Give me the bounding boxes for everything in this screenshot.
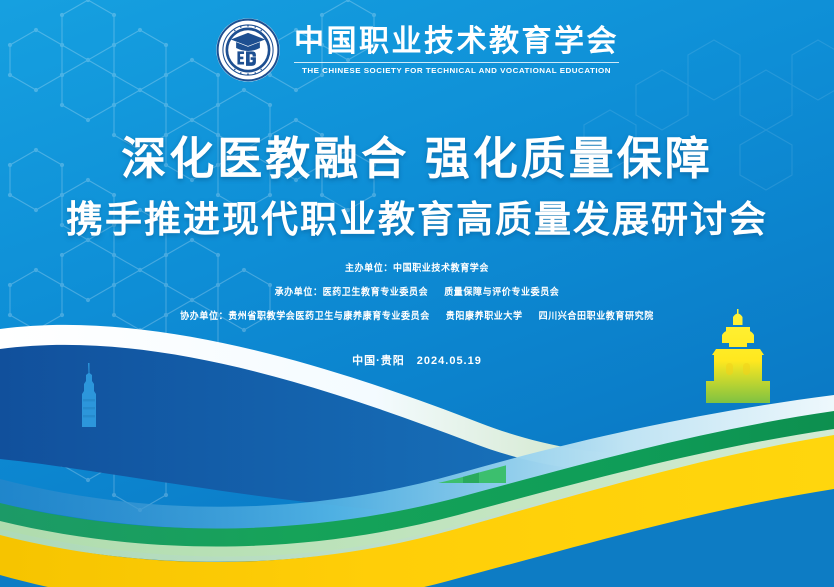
organizer-entity: 医药卫生教育专业委员会 (323, 287, 429, 298)
organizer-label: 主办单位： (345, 263, 393, 274)
organizer-entity: 中国职业技术教育学会 (393, 263, 489, 274)
society-name-en: THE CHINESE SOCIETY FOR TECHNICAL AND VO… (302, 67, 611, 76)
conference-banner: 中国职业技术教育学会 THE CHINESE SOCIETY FOR TECHN… (0, 0, 834, 587)
society-logo-block: 中国职业技术教育学会 THE CHINESE SOCIETY FOR TECHN… (0, 17, 834, 83)
organizer-label: 承办单位： (275, 287, 323, 298)
logo-divider (294, 62, 619, 63)
graduation-cap-seal-logo-icon (215, 17, 281, 83)
organizer-row-host: 主办单位：中国职业技术教育学会 (345, 261, 489, 275)
banner-sub-title: 携手推进现代职业教育高质量发展研讨会 (0, 189, 834, 243)
society-name-cn: 中国职业技术教育学会 (294, 25, 619, 59)
banner-main-title: 深化医教融合 强化质量保障 (0, 122, 834, 187)
organizer-row-undertaker: 承办单位：医药卫生教育专业委员会质量保障与评价专业委员会 (275, 285, 560, 299)
organizer-entity: 质量保障与评价专业委员会 (444, 287, 559, 298)
jiaxiu-pavilion-silhouette-icon (706, 309, 770, 403)
wave-landscape-artwork (0, 307, 834, 587)
